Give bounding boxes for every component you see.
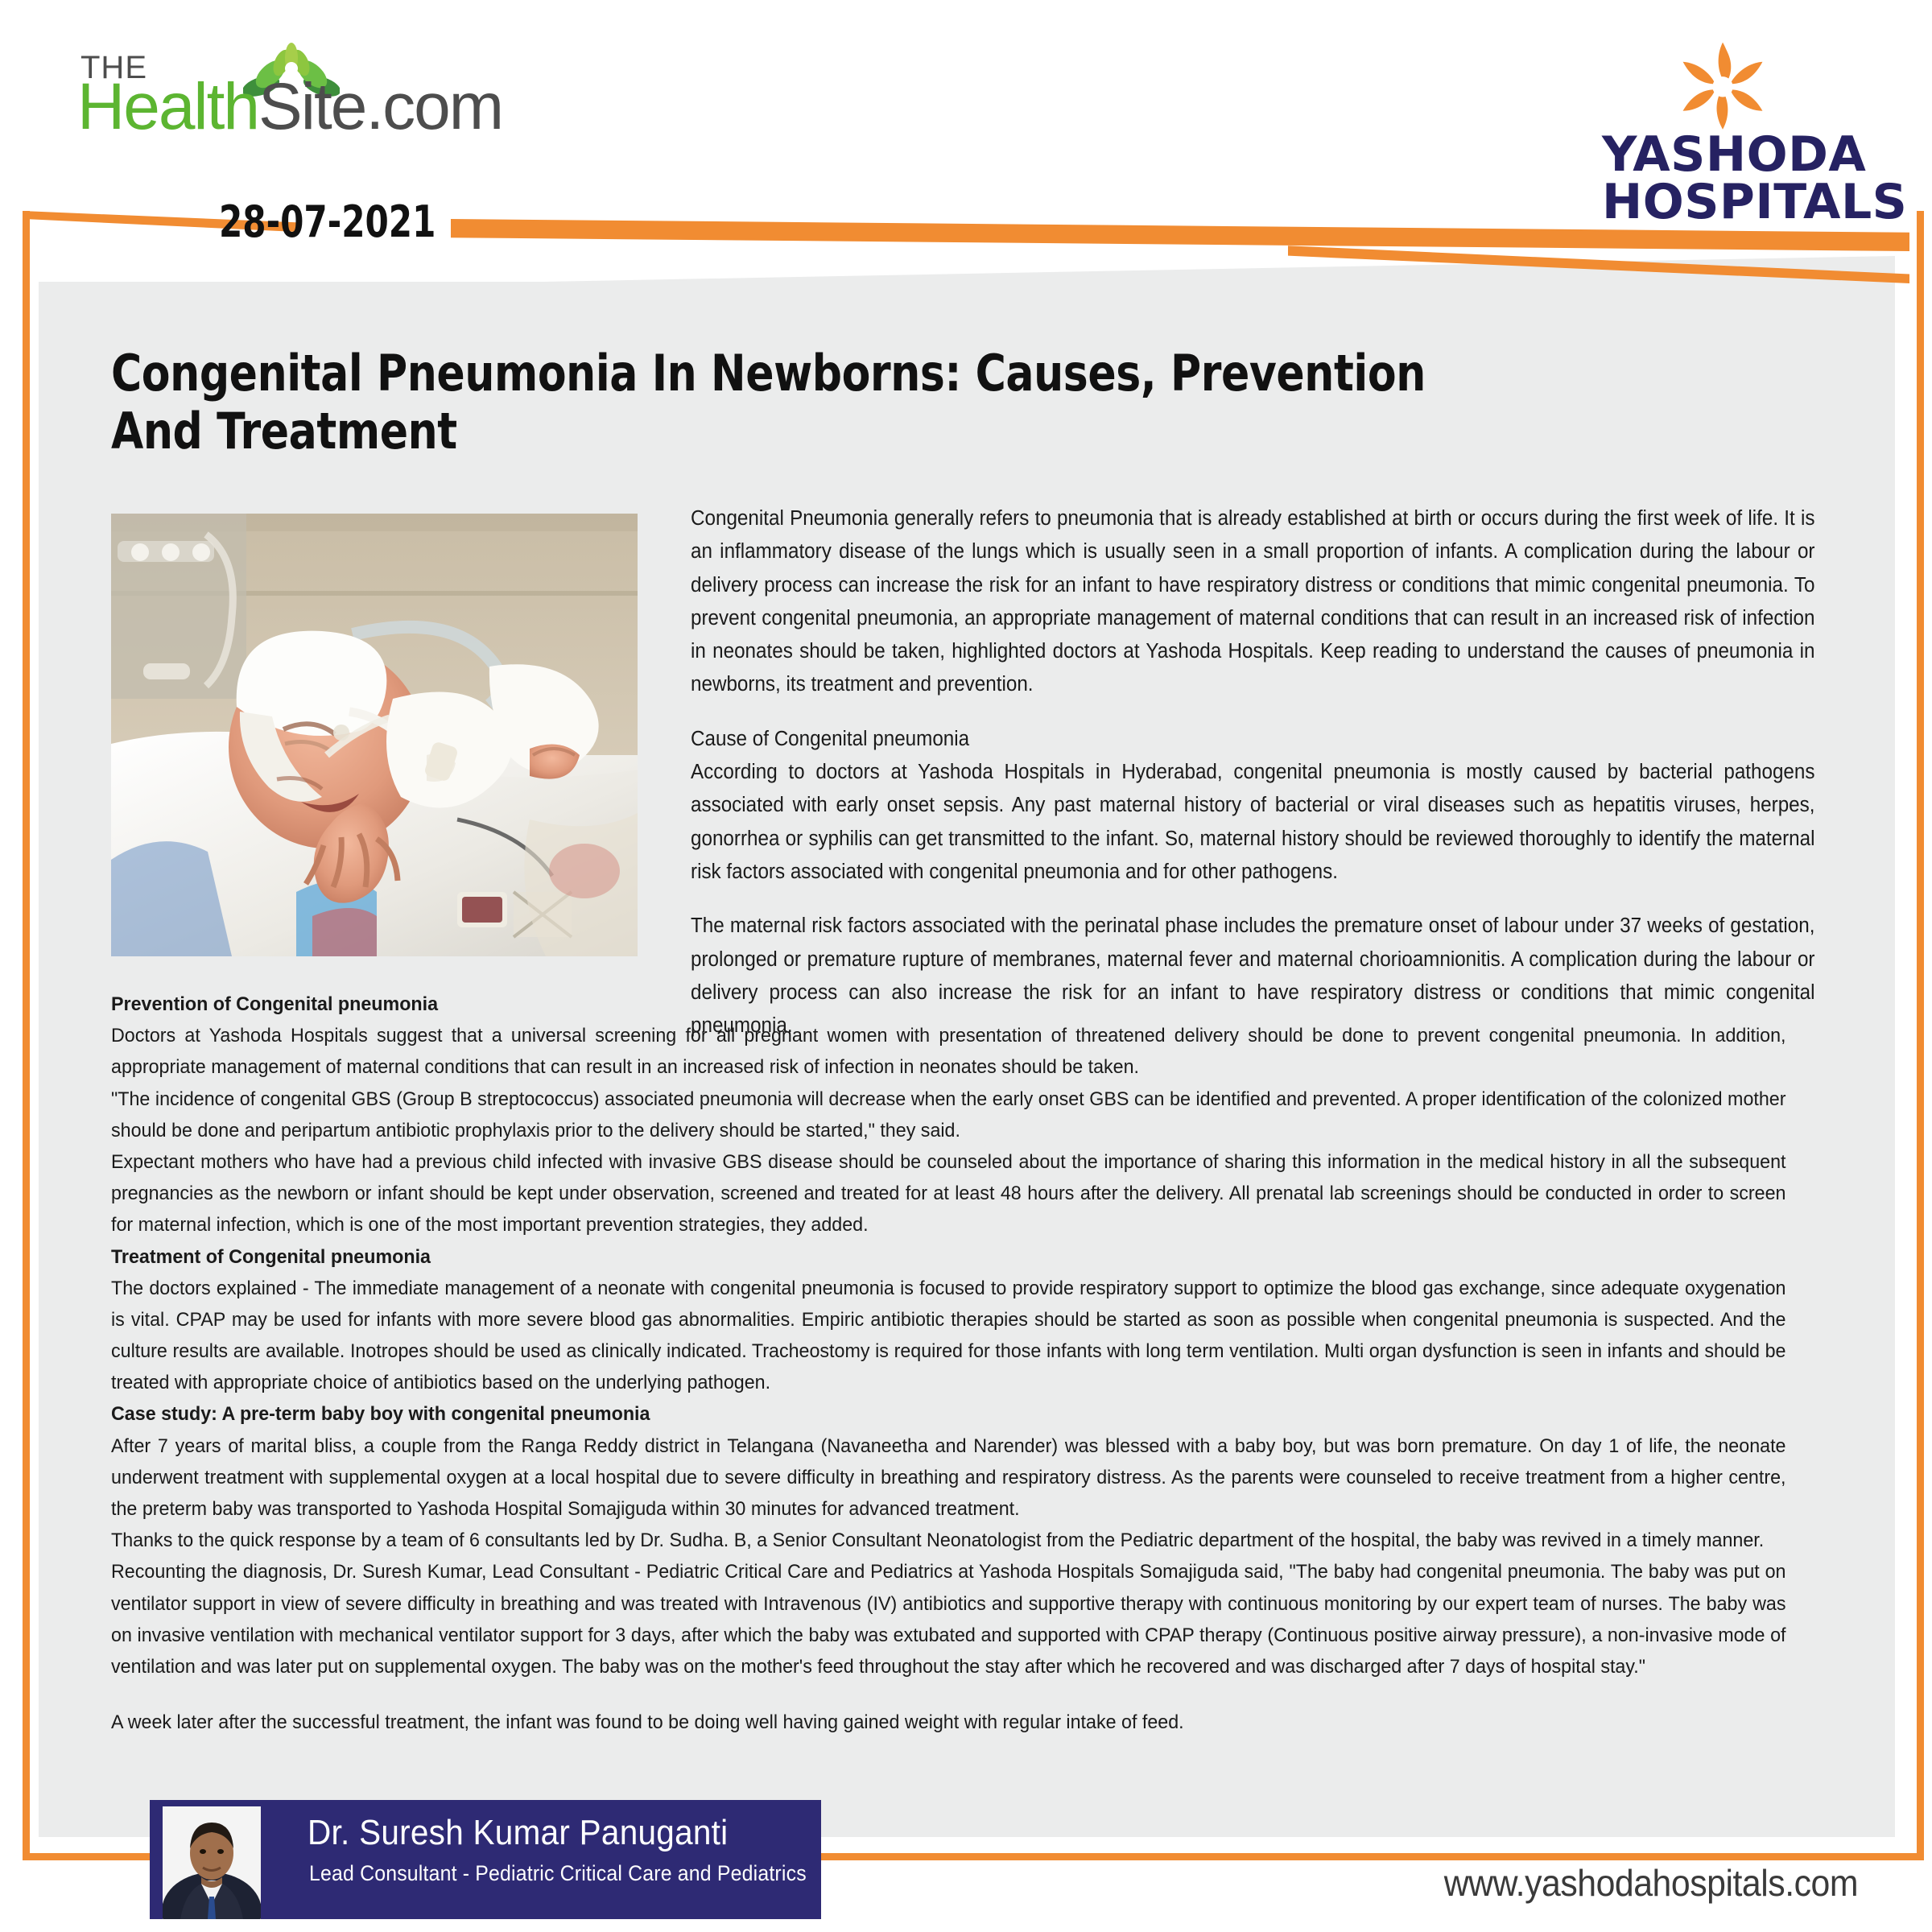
- page-title: Congenital Pneumonia In Newborns: Causes…: [111, 345, 1450, 460]
- logo-wordmark: HealthSite.com: [77, 74, 502, 140]
- six-petal-flower-icon: [1662, 39, 1783, 131]
- logo-sitecom-text: Site.com: [258, 70, 502, 143]
- doctor-role: Lead Consultant - Pediatric Critical Car…: [309, 1861, 807, 1886]
- thehealthsite-logo: THE HealthSite.com: [77, 40, 448, 141]
- case-paragraph-3: Recounting the diagnosis, Dr. Suresh Kum…: [111, 1556, 1786, 1682]
- prevention-heading: Prevention of Congenital pneumonia: [111, 989, 1786, 1020]
- newborn-in-incubator-photo: [111, 514, 638, 956]
- doctor-headshot-photo: [163, 1806, 261, 1919]
- logo-health-text: Health: [77, 70, 258, 143]
- prevention-paragraph-2: "The incidence of congenital GBS (Group …: [111, 1084, 1786, 1146]
- intro-column: Congenital Pneumonia generally refers to…: [691, 502, 1815, 1042]
- article-body: Prevention of Congenital pneumonia Docto…: [111, 989, 1786, 1738]
- doctor-name: Dr. Suresh Kumar Panuganti: [308, 1813, 728, 1853]
- closing-paragraph: A week later after the successful treatm…: [111, 1707, 1786, 1738]
- doctor-credit-card: Dr. Suresh Kumar Panuganti Lead Consulta…: [150, 1800, 821, 1919]
- case-paragraph-2: Thanks to the quick response by a team o…: [111, 1525, 1786, 1556]
- website-url: www.yashodahospitals.com: [1444, 1861, 1858, 1905]
- yashoda-hospitals-logo: YASHODA HOSPITALS: [1602, 39, 1843, 192]
- case-study-heading: Case study: A pre-term baby boy with con…: [111, 1398, 1786, 1430]
- prevention-paragraph-1: Doctors at Yashoda Hospitals suggest tha…: [111, 1020, 1786, 1083]
- intro-paragraph: Congenital Pneumonia generally refers to…: [691, 502, 1815, 702]
- treatment-paragraph-1: The doctors explained - The immediate ma…: [111, 1273, 1786, 1399]
- hospital-name-line1: YASHODA: [1602, 131, 1843, 179]
- cause-heading: Cause of Congenital pneumonia: [691, 723, 1815, 756]
- publish-date: 28-07-2021: [219, 196, 436, 247]
- prevention-paragraph-3: Expectant mothers who have had a previou…: [111, 1146, 1786, 1241]
- cause-paragraph: According to doctors at Yashoda Hospital…: [691, 756, 1815, 889]
- poster-page: THE HealthSite.com: [0, 0, 1932, 1932]
- case-paragraph-1: After 7 years of marital bliss, a couple…: [111, 1430, 1786, 1525]
- treatment-heading: Treatment of Congenital pneumonia: [111, 1241, 1786, 1273]
